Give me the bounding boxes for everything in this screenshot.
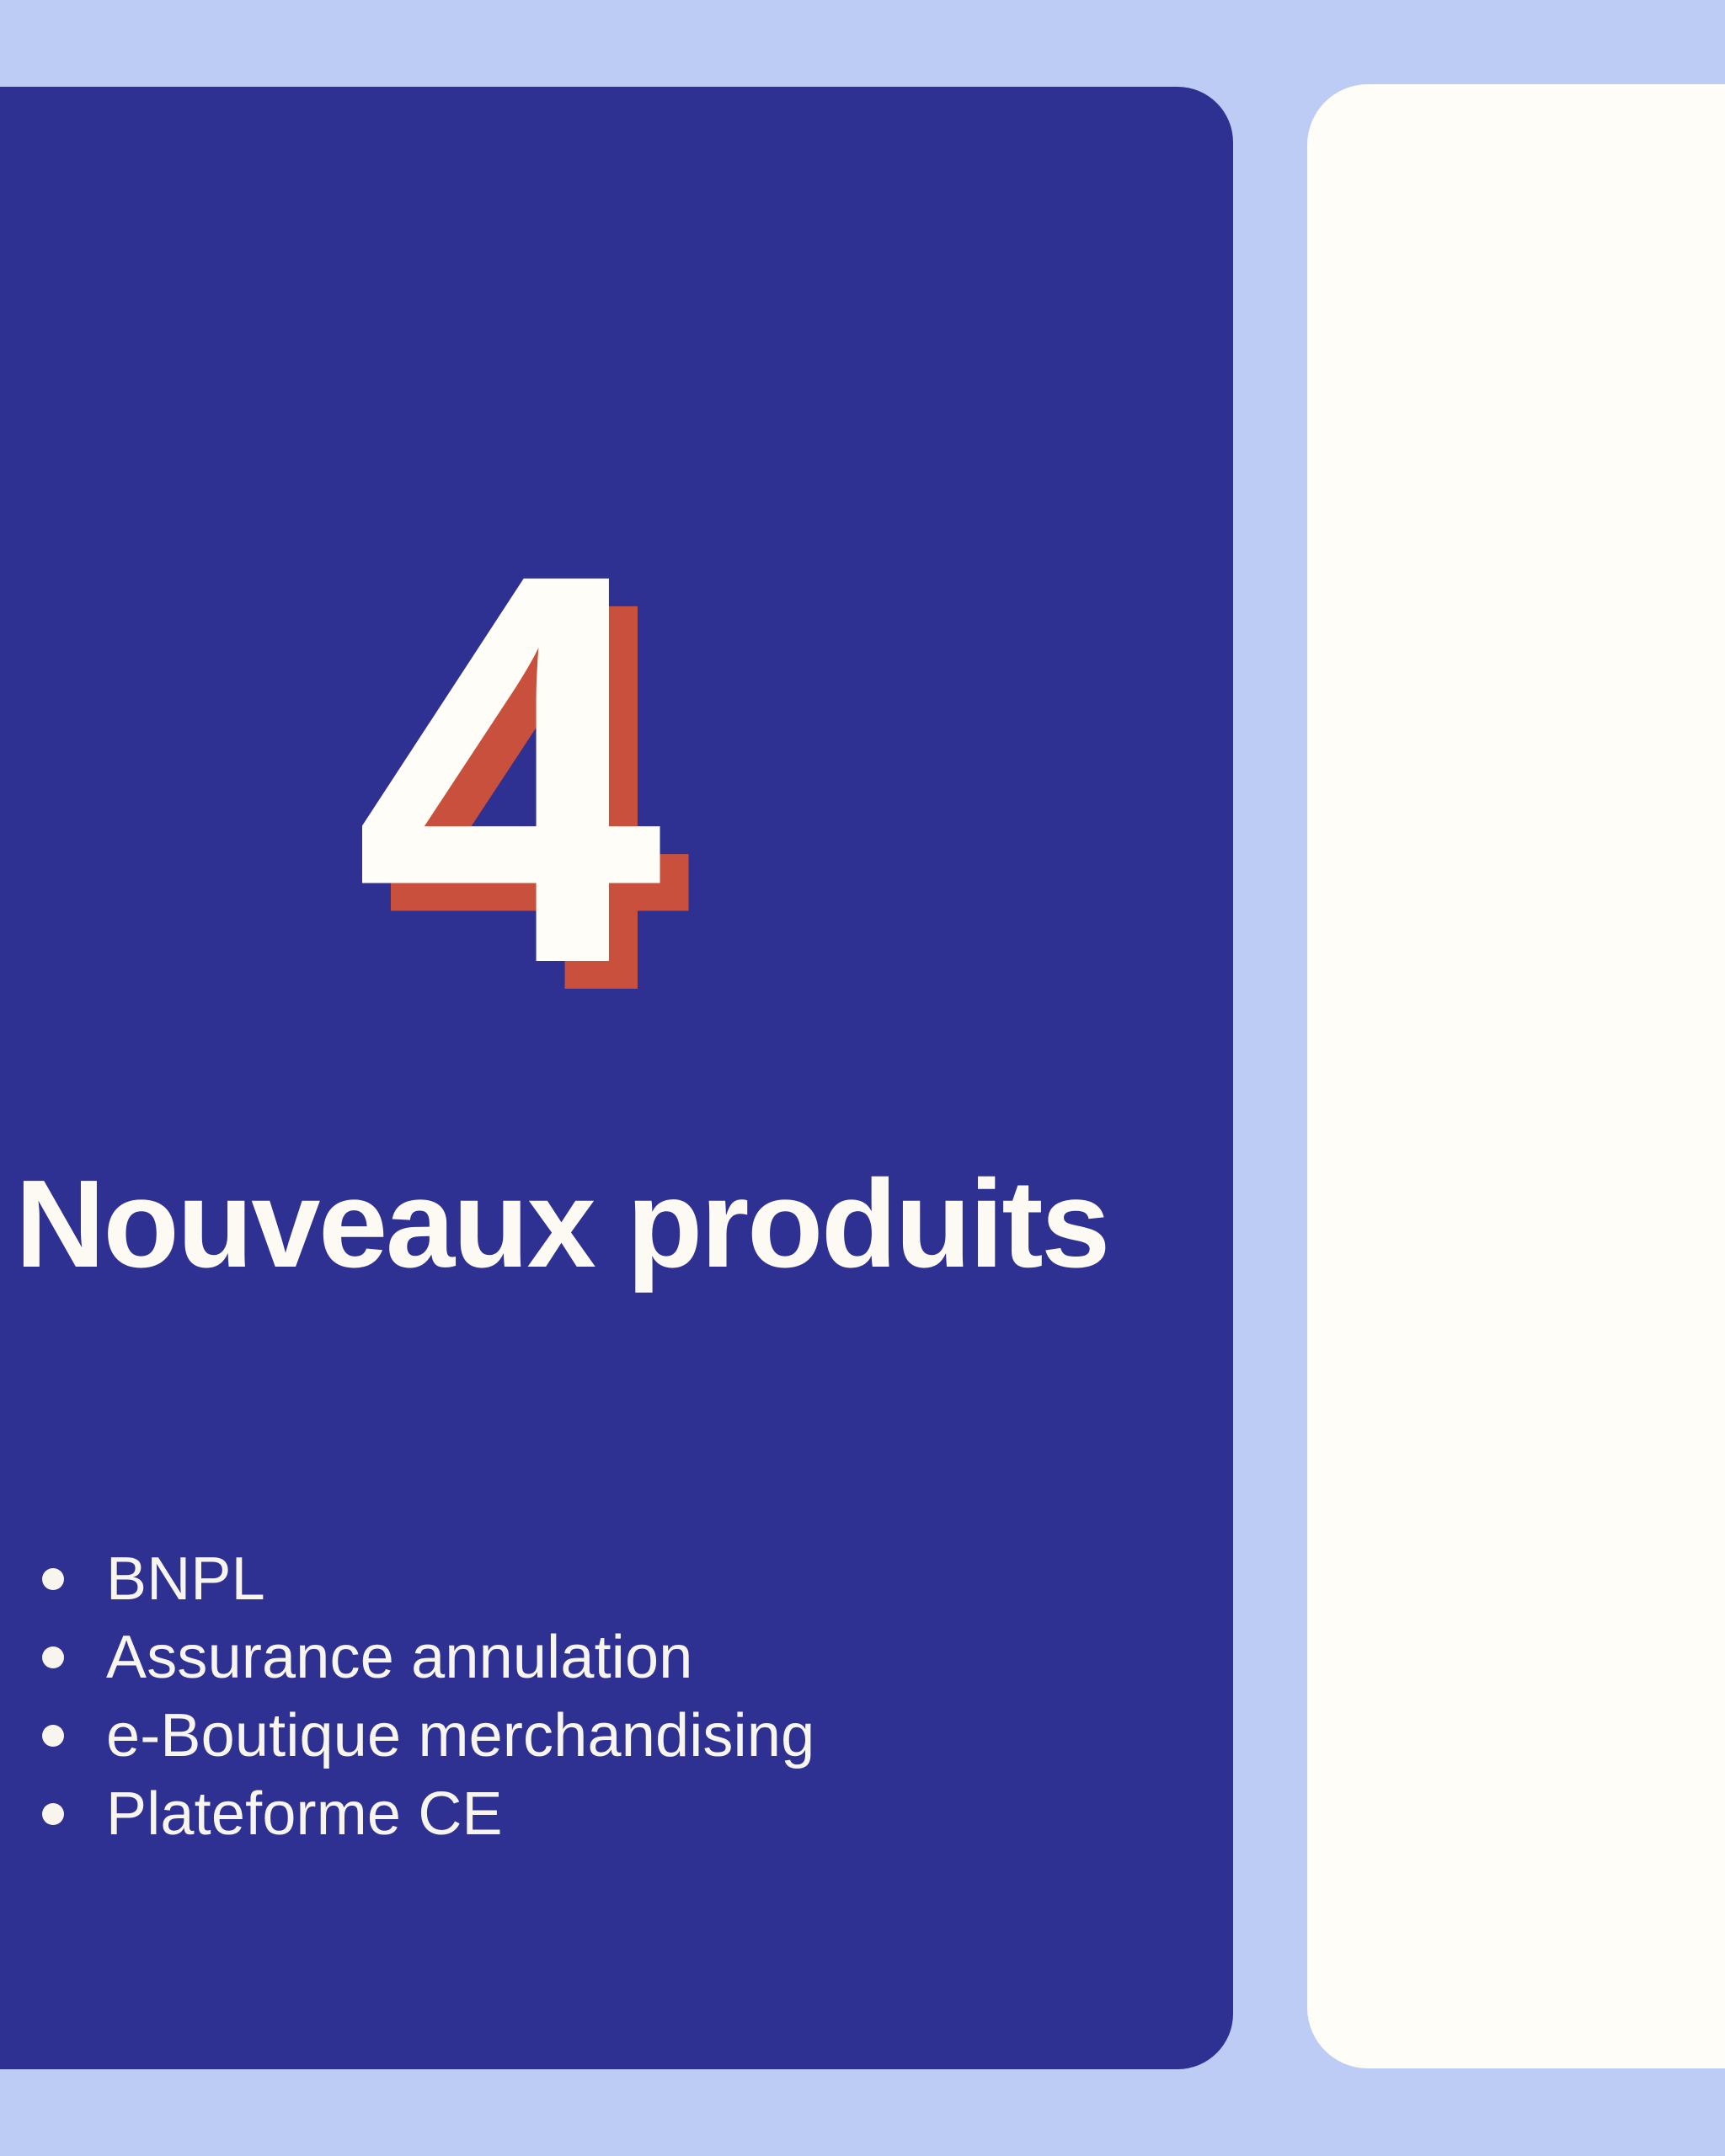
- section-number: 4 4: [354, 508, 825, 1030]
- page-title: Nouveaux produits: [15, 1157, 1093, 1292]
- list-item-label: e-Boutique merchandising: [106, 1702, 814, 1769]
- list-item-label: Assurance annulation: [106, 1624, 692, 1691]
- bullet-dot-icon: [42, 1646, 64, 1668]
- list-item: Plateforme CE: [34, 1775, 1087, 1854]
- list-item: e-Boutique merchandising: [34, 1697, 1087, 1775]
- section-number-front: 4: [354, 508, 656, 1030]
- list-item-label: Plateforme CE: [106, 1780, 503, 1848]
- bullet-dot-icon: [42, 1725, 64, 1747]
- list-item: BNPL: [34, 1540, 1087, 1619]
- list-item: Assurance annulation: [34, 1619, 1087, 1697]
- slide-canvas: 4 4 Nouveaux produits BNPL Assurance ann…: [0, 0, 1725, 2156]
- feature-card[interactable]: 4 4 Nouveaux produits BNPL Assurance ann…: [0, 87, 1233, 2069]
- bullet-dot-icon: [42, 1568, 64, 1590]
- list-item-label: BNPL: [106, 1545, 265, 1613]
- bullet-dot-icon: [42, 1803, 64, 1825]
- feature-bullet-list: BNPL Assurance annulation e-Boutique mer…: [34, 1540, 1087, 1854]
- adjacent-slide-panel[interactable]: [1307, 84, 1725, 2068]
